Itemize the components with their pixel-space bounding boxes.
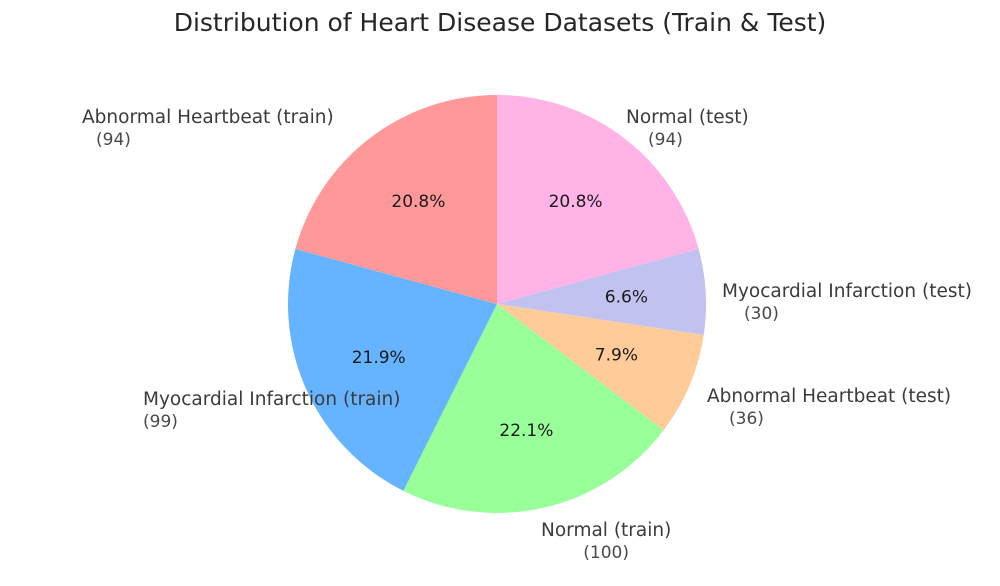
slice-label-text: Abnormal Heartbeat (test) — [707, 386, 951, 407]
slice-percent-label: 6.6% — [605, 287, 648, 307]
slice-count-text: (100) — [541, 543, 671, 565]
pie-chart-figure: Distribution of Heart Disease Datasets (… — [0, 0, 1000, 586]
slice-label-abnormal-heartbeat-test: Abnormal Heartbeat (test) (36) — [707, 385, 951, 430]
slice-label-text: Myocardial Infarction (test) — [722, 281, 972, 302]
slice-label-text: Normal (test) — [626, 107, 749, 128]
slice-percent-label: 21.9% — [352, 348, 406, 368]
chart-title: Distribution of Heart Disease Datasets (… — [0, 8, 1000, 37]
pie-svg: 20.8%6.6%7.9%22.1%21.9%20.8% — [287, 94, 707, 514]
pie-plot-area: 20.8%6.6%7.9%22.1%21.9%20.8% — [287, 94, 707, 514]
slice-label-normal-train: Normal (train) (100) — [541, 519, 671, 564]
slice-count-text: (94) — [626, 130, 749, 152]
slice-count-text: (30) — [722, 304, 972, 326]
slice-percent-label: 20.8% — [391, 192, 445, 212]
slice-label-text: Myocardial Infarction (train) — [143, 389, 400, 410]
slice-label-myocardial-infarction-train: Myocardial Infarction (train) (99) — [143, 388, 400, 433]
slice-count-text: (99) — [143, 412, 400, 434]
slice-label-text: Normal (train) — [541, 520, 671, 541]
slice-label-normal-test: Normal (test) (94) — [626, 106, 749, 151]
slice-percent-label: 22.1% — [499, 421, 553, 441]
slice-label-myocardial-infarction-test: Myocardial Infarction (test) (30) — [722, 280, 972, 325]
slice-percent-label: 20.8% — [549, 192, 603, 212]
slice-count-text: (94) — [82, 130, 334, 152]
slice-label-text: Abnormal Heartbeat (train) — [82, 107, 334, 128]
slice-percent-label: 7.9% — [595, 345, 638, 365]
slice-count-text: (36) — [707, 409, 951, 431]
slice-label-abnormal-heartbeat-train: Abnormal Heartbeat (train) (94) — [82, 106, 334, 151]
